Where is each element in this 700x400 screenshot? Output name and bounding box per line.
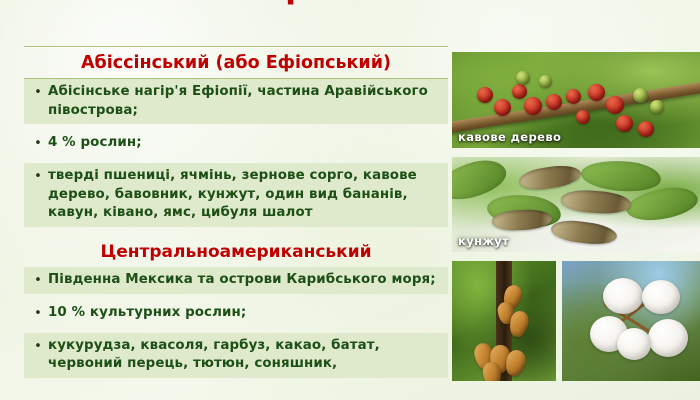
- bullet-text: кукурудза, квасоля, гарбуз, какао, батат…: [48, 337, 442, 374]
- bullet-text: 4 % рослин;: [48, 134, 442, 153]
- photo-caption: кунжут: [458, 234, 509, 248]
- photo-cotton: [562, 261, 700, 381]
- bullet-item: • Південна Мексика та острови Карибськог…: [24, 267, 448, 294]
- bullet-text: тверді пшениці, ячмінь, зернове сорго, к…: [48, 167, 442, 223]
- slide-title: рослин: [0, 0, 700, 6]
- bullet-marker: •: [28, 304, 48, 323]
- bullet-item: • тверді пшениці, ячмінь, зернове сорго,…: [24, 163, 448, 227]
- bullet-marker: •: [28, 337, 48, 356]
- photo-cacao: [452, 261, 556, 381]
- bullet-marker: •: [28, 83, 48, 102]
- bullet-marker: •: [28, 271, 48, 290]
- bullet-marker: •: [28, 167, 48, 186]
- photo-row-bottom: [452, 261, 700, 381]
- photo-column: кавове дерево кунжут: [452, 52, 700, 381]
- section-heading-abyssinian: Абіссінський (або Ефіопський): [24, 47, 448, 78]
- bullet-marker: •: [28, 134, 48, 153]
- bullet-item: • 10 % культурних рослин;: [24, 300, 448, 327]
- bullet-text: Абісінське нагір'я Ефіопії, частина Арав…: [48, 83, 442, 120]
- content-column: Абіссінський (або Ефіопський) • Абісінсь…: [24, 46, 448, 378]
- photo-coffee-tree: кавове дерево: [452, 52, 700, 148]
- photo-caption: кавове дерево: [458, 130, 561, 144]
- bullet-item: • кукурудза, квасоля, гарбуз, какао, бат…: [24, 333, 448, 378]
- bullet-text: Південна Мексика та острови Карибського …: [48, 271, 442, 290]
- bullet-item: • Абісінське нагір'я Ефіопії, частина Ар…: [24, 79, 448, 124]
- bullet-item: • 4 % рослин;: [24, 130, 448, 157]
- section-heading-central-american: Центральноамериканський: [24, 236, 448, 267]
- photo-sesame: кунжут: [452, 157, 700, 252]
- bullet-text: 10 % культурних рослин;: [48, 304, 442, 323]
- slide: рослин Абіссінський (або Ефіопський) • А…: [0, 0, 700, 400]
